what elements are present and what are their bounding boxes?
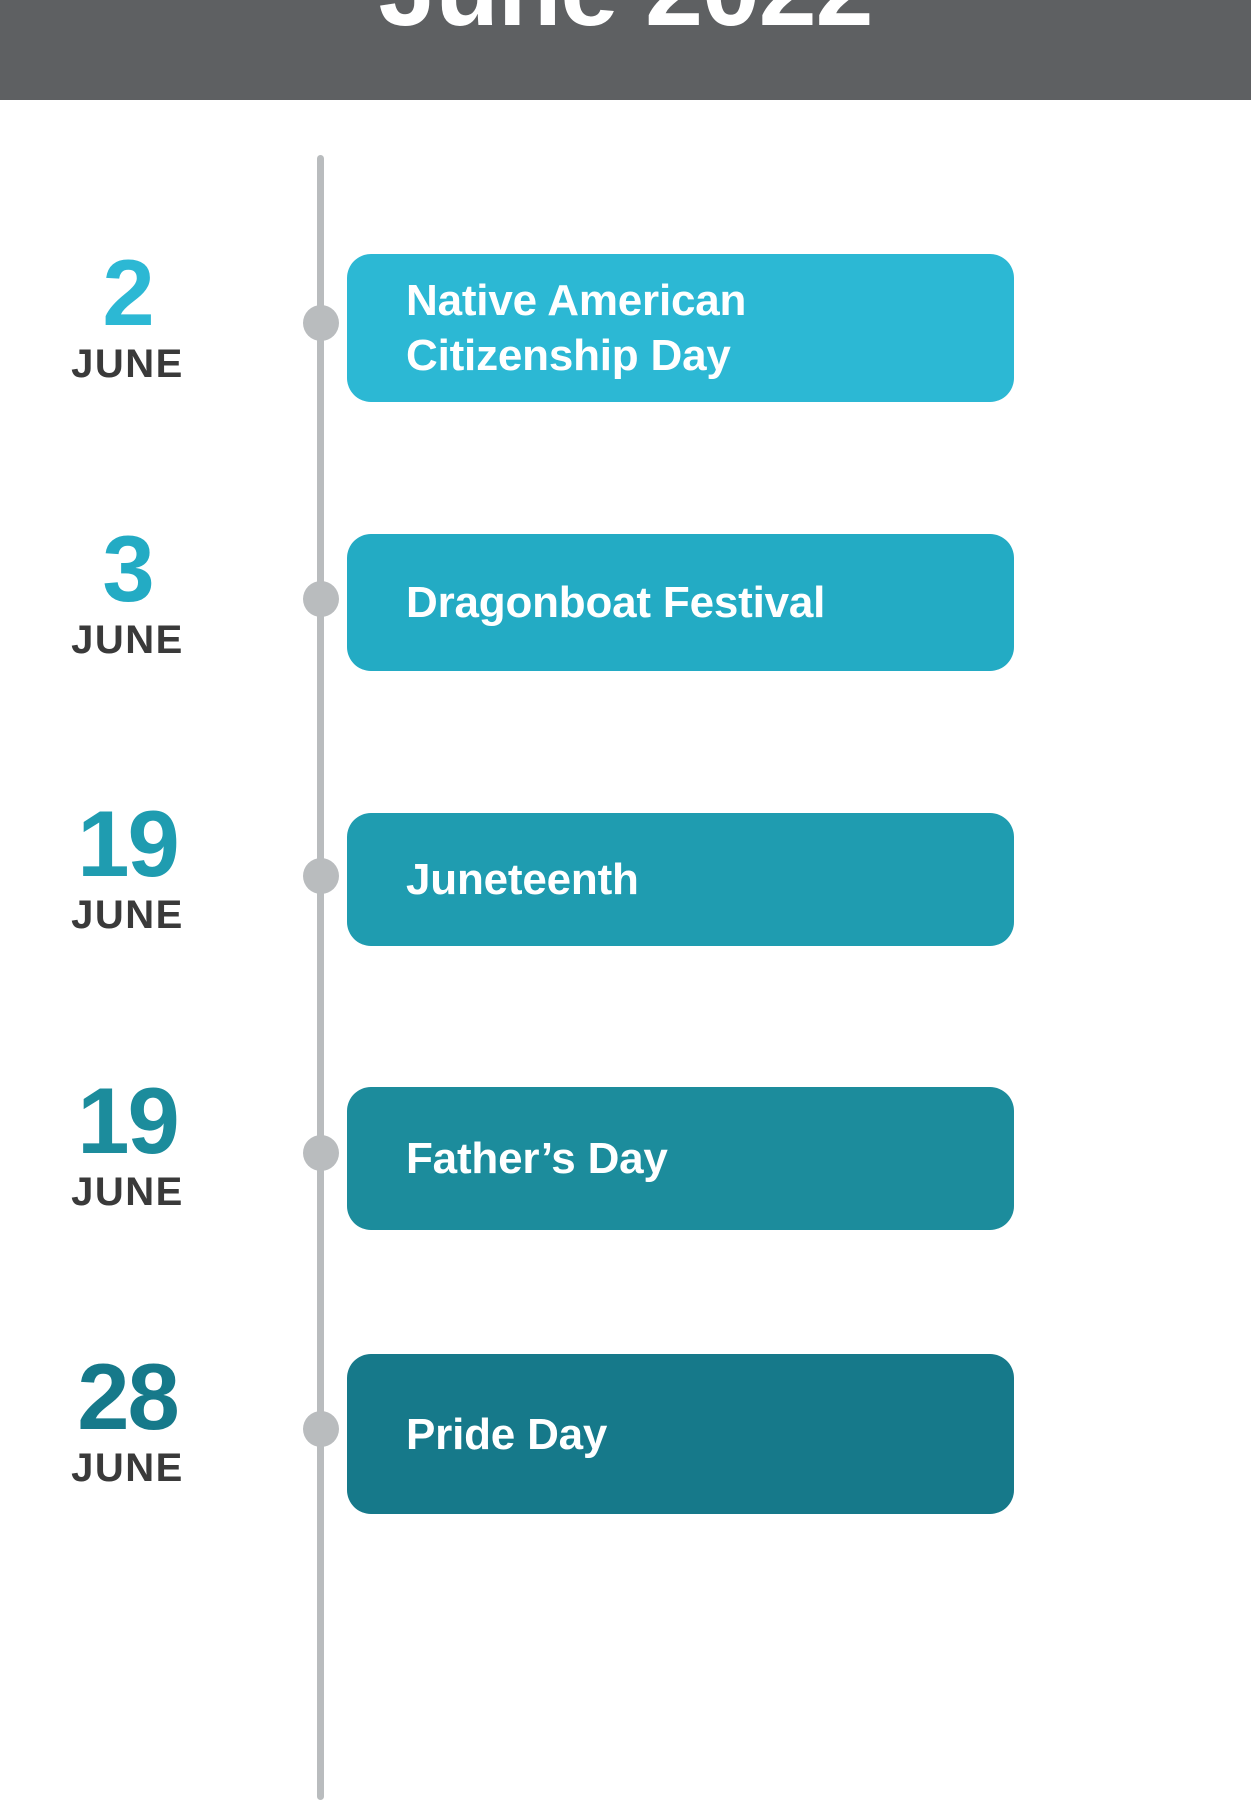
date-block: 19 JUNE: [0, 801, 255, 938]
timeline-dot-marker: [303, 1411, 339, 1447]
event-pill[interactable]: Juneteenth: [347, 813, 1014, 946]
event-label: Native American Citizenship Day: [347, 273, 1014, 383]
day-number: 19: [0, 1078, 255, 1164]
date-block: 28 JUNE: [0, 1354, 255, 1491]
date-block: 2 JUNE: [0, 250, 255, 387]
event-pill[interactable]: Native American Citizenship Day: [347, 254, 1014, 402]
day-number: 3: [0, 526, 255, 612]
date-block: 19 JUNE: [0, 1078, 255, 1215]
page-title: June 2022: [0, 0, 1251, 42]
timeline-row: 2 JUNE Native American Citizenship Day: [0, 250, 1251, 430]
event-label: Pride Day: [347, 1407, 637, 1462]
month-label: JUNE: [0, 618, 255, 663]
timeline-row: 28 JUNE Pride Day: [0, 1354, 1251, 1534]
timeline-dot-marker: [303, 1135, 339, 1171]
timeline-dot-marker: [303, 581, 339, 617]
day-number: 19: [0, 801, 255, 887]
event-pill[interactable]: Father’s Day: [347, 1087, 1014, 1230]
june-2022-timeline-infographic: June 2022 2 JUNE Native American Citizen…: [0, 0, 1251, 1800]
timeline-dot-marker: [303, 858, 339, 894]
event-label: Dragonboat Festival: [347, 575, 855, 630]
header-bar: June 2022: [0, 0, 1251, 100]
event-pill[interactable]: Dragonboat Festival: [347, 534, 1014, 671]
event-label: Juneteenth: [347, 852, 669, 907]
date-block: 3 JUNE: [0, 526, 255, 663]
month-label: JUNE: [0, 893, 255, 938]
month-label: JUNE: [0, 342, 255, 387]
timeline-dot-marker: [303, 305, 339, 341]
day-number: 28: [0, 1354, 255, 1440]
day-number: 2: [0, 250, 255, 336]
timeline-row: 19 JUNE Father’s Day: [0, 1078, 1251, 1258]
timeline-row: 19 JUNE Juneteenth: [0, 801, 1251, 981]
timeline-row: 3 JUNE Dragonboat Festival: [0, 526, 1251, 706]
month-label: JUNE: [0, 1170, 255, 1215]
month-label: JUNE: [0, 1446, 255, 1491]
event-pill[interactable]: Pride Day: [347, 1354, 1014, 1514]
event-label: Father’s Day: [347, 1131, 698, 1186]
